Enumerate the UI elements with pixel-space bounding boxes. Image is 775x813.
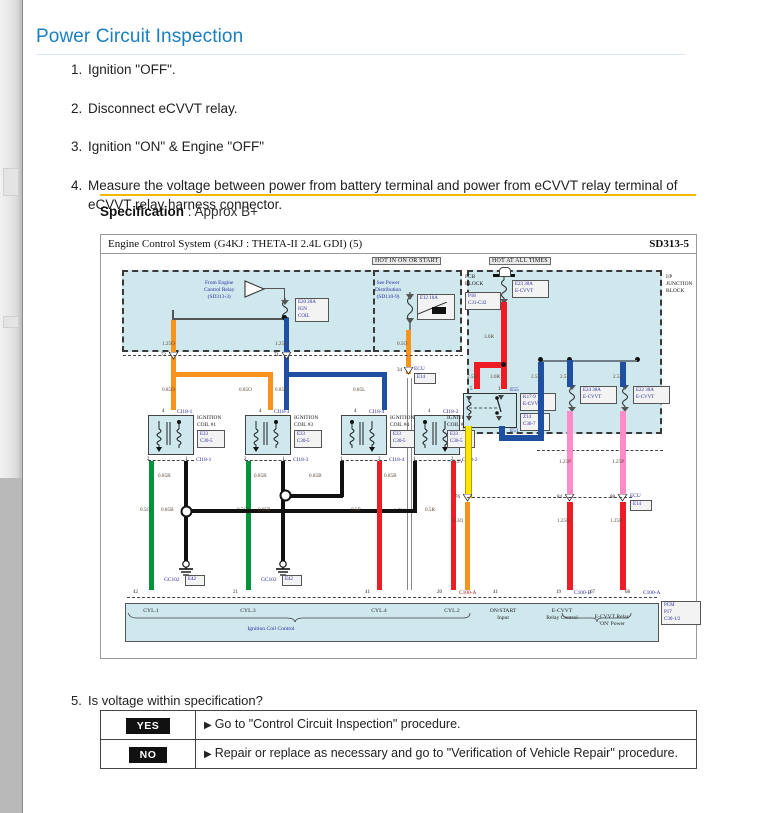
fuse-box-e23-ecvvt: E23 30A E-CVVT bbox=[512, 280, 549, 298]
step-text: Disconnect eCVVT relay. bbox=[88, 99, 711, 119]
fuse-e22-symbol bbox=[619, 385, 631, 413]
table-row: YES ▶Go to "Control Circuit Inspection" … bbox=[101, 711, 697, 740]
coil-bottom-connector: CI18-1 bbox=[196, 457, 211, 464]
wire-label: 0.5R bbox=[425, 507, 435, 513]
connector-ref-p18: P18 C31-C32 bbox=[465, 292, 501, 310]
wire-label: 3.0R bbox=[484, 334, 494, 340]
wire-label: 2.5L bbox=[531, 374, 541, 380]
zone-tag-hot-in-on-or-start: HOT IN ON OR START bbox=[372, 257, 441, 265]
ground-symbol-gc102-b bbox=[274, 560, 292, 576]
step-number: 4. bbox=[71, 176, 88, 215]
decision-value-text: Go to "Control Circuit Inspection" proce… bbox=[215, 717, 461, 731]
step-number: 1. bbox=[71, 60, 88, 80]
splice-circle bbox=[279, 489, 292, 502]
coil-bottom-connector: CI18-3 bbox=[293, 457, 308, 464]
ignition-coil-1-title: IGNITIONCOIL #1 bbox=[197, 415, 221, 429]
decision-value-text: Repair or replace as necessary and go to… bbox=[215, 746, 678, 760]
harness-boundary-line-right bbox=[537, 450, 663, 451]
wire-black-coil4 bbox=[340, 461, 344, 497]
wire-label: 0.85B bbox=[384, 473, 397, 479]
connector-pin-number: 41 bbox=[493, 590, 498, 595]
step-text: Ignition "OFF". bbox=[88, 60, 711, 80]
wire-label: 0.5O bbox=[397, 341, 407, 347]
yes-badge: YES bbox=[126, 718, 171, 734]
step-number: 3. bbox=[71, 137, 88, 157]
label-see-power-distribution: See PowerDistribution(SD110-9) bbox=[375, 280, 401, 300]
wire-red-ecvvt-main bbox=[501, 302, 507, 365]
wire-yellow-relay-control bbox=[465, 426, 472, 498]
ground-box: E42 bbox=[185, 575, 205, 586]
fuse-code: E12 10A bbox=[420, 296, 438, 301]
wire-label: 0.5G bbox=[140, 507, 150, 513]
connector-id-c100-a-2: C100-A bbox=[643, 590, 660, 597]
specification-label: Specification bbox=[100, 204, 184, 219]
battery-post-icon bbox=[499, 267, 511, 277]
scrollbar-track-lower[interactable] bbox=[0, 478, 22, 813]
pcm-connector-ref: PCMP17C30-1/2 bbox=[661, 601, 701, 625]
wire-label: 3.0R bbox=[490, 374, 500, 380]
wire-pink-ecvvt-b bbox=[620, 411, 626, 498]
wire-white-ecu bbox=[407, 378, 412, 590]
connector-pin-number: 20 bbox=[437, 590, 442, 595]
connector-pin-number: 68 bbox=[625, 590, 630, 595]
wire-label: 2.5L bbox=[560, 374, 570, 380]
relay-pin-number: 1 bbox=[498, 387, 501, 392]
document-page: Power Circuit Inspection 1. Ignition "OF… bbox=[23, 0, 775, 813]
coil-pin-number: 4 bbox=[259, 409, 262, 414]
wire-label: 0.3Y bbox=[453, 459, 463, 465]
fuse-box-e20-ign-coil: E20 20A IGNCOIL bbox=[295, 298, 329, 322]
ignition-coil-3-title: IGNITIONCOIL #3 bbox=[294, 415, 318, 429]
fuse-box-e24-ecvvt: E24 30A E-CVVT bbox=[580, 386, 617, 404]
connector-pin-number: 67 bbox=[590, 590, 595, 595]
diagram-sheet-number: SD313-5 bbox=[649, 238, 689, 250]
splice-34 bbox=[404, 367, 413, 374]
wire-label: 0.85O bbox=[239, 387, 252, 393]
splice-number: 34 bbox=[397, 368, 402, 373]
fuse-code: E24 30A bbox=[583, 388, 601, 393]
step-number: 2. bbox=[71, 99, 88, 119]
connector-pin-number: 42 bbox=[133, 590, 138, 595]
specification-divider bbox=[100, 194, 696, 196]
wire-label: 0.85L bbox=[353, 387, 365, 393]
decision-key-cell: NO bbox=[101, 740, 196, 769]
coil-symbol bbox=[155, 419, 189, 452]
wire-gray-bus-left-v bbox=[172, 310, 174, 319]
ground-symbol-gc102-a bbox=[177, 560, 195, 576]
step-item: 2. Disconnect eCVVT relay. bbox=[71, 99, 711, 119]
ground-code: GC102 bbox=[164, 577, 180, 584]
wire-red-cyl2 bbox=[451, 461, 456, 590]
diagram-model: (G4KJ : THETA-II 2.4L GDI) (5) bbox=[214, 238, 362, 250]
question-line: 5. Is voltage within specification? bbox=[71, 693, 263, 708]
no-badge: NO bbox=[129, 747, 168, 763]
decision-table: YES ▶Go to "Control Circuit Inspection" … bbox=[100, 710, 697, 769]
bullet-triangle-icon: ▶ bbox=[204, 749, 212, 760]
coil-symbol bbox=[252, 419, 286, 452]
harness-boundary-line bbox=[123, 355, 463, 356]
splice-number: 76 bbox=[455, 495, 460, 500]
coil-pin-number: 4 bbox=[162, 409, 165, 414]
wire-label: 0.85B bbox=[309, 473, 322, 479]
step-item: 3. Ignition "ON" & Engine "OFF" bbox=[71, 137, 711, 157]
connector-function-on-start-input: ON/STARTInput bbox=[478, 608, 528, 623]
connector-box-e14-b: E14 bbox=[630, 500, 652, 511]
wire-label: 1.25R bbox=[557, 518, 570, 524]
wire-blue-branch-h bbox=[284, 372, 387, 377]
wire-label: 1.25L bbox=[275, 341, 287, 347]
wire-label: 1.25P bbox=[559, 459, 571, 465]
splice-circle bbox=[180, 505, 193, 518]
left-scrollbar[interactable] bbox=[0, 0, 23, 813]
decision-value-cell: ▶Go to "Control Circuit Inspection" proc… bbox=[196, 711, 697, 740]
wire-label: 0.85O bbox=[162, 387, 175, 393]
connector-pin-number: 19 bbox=[556, 590, 561, 595]
wire-pink-ecvvt-a bbox=[567, 411, 573, 498]
ground-box: E42 bbox=[282, 575, 302, 586]
fuse-code: E23 30A bbox=[515, 282, 533, 287]
specification-value: Approx B+ bbox=[195, 204, 258, 219]
wiring-diagram: Engine Control System (G4KJ : THETA-II 2… bbox=[100, 234, 697, 659]
wire-orange-branch-r bbox=[268, 372, 273, 410]
wire-label: 1.25P bbox=[612, 459, 624, 465]
page-title: Power Circuit Inspection bbox=[36, 26, 243, 48]
wire-orange-relay-control bbox=[465, 502, 470, 590]
relay-pin-number: 5 bbox=[470, 387, 473, 392]
fuse-e23-symbol bbox=[498, 277, 510, 305]
decision-key-cell: YES bbox=[101, 711, 196, 740]
diagram-canvas: HOT IN ON OR START HOT AT ALL TIMES PCBB… bbox=[101, 254, 698, 658]
wire-label: 0.85B bbox=[254, 473, 267, 479]
wire-green-cyl3 bbox=[246, 461, 251, 590]
diagram-header: Engine Control System (G4KJ : THETA-II 2… bbox=[101, 235, 696, 254]
connector-pin-number: 41 bbox=[365, 590, 370, 595]
wire-label: 0.85B bbox=[258, 507, 271, 513]
fuse-code: E20 20A bbox=[298, 300, 316, 305]
wire-label: 0.85B bbox=[161, 507, 174, 513]
wire-label: 2.5L bbox=[613, 374, 623, 380]
fuse-name: E-CVVT bbox=[515, 289, 533, 294]
wire-label: 1.25R bbox=[610, 518, 623, 524]
fuse-e12-graphic bbox=[418, 302, 448, 315]
zone-tag-hot-at-all-times: HOT AT ALL TIMES bbox=[489, 257, 551, 265]
wire-red-cyl4 bbox=[377, 461, 382, 590]
diagram-system-name: Engine Control System bbox=[108, 238, 211, 250]
connector-group-label: Ignition Coil Control bbox=[211, 626, 331, 632]
wire-red-ecvvt-on-a bbox=[567, 502, 573, 590]
step-text: Ignition "ON" & Engine "OFF" bbox=[88, 137, 711, 157]
wire-green-cyl1 bbox=[149, 461, 154, 590]
wire-label: 0.85L bbox=[275, 387, 287, 393]
fuse-code: E22 30A bbox=[636, 388, 654, 393]
ignition-coil-3-ref: E33C30-5 bbox=[294, 430, 322, 448]
ignition-coil-4-title: IGNITIONCOIL #4 bbox=[390, 415, 414, 429]
coil-bottom-connector: CI18-4 bbox=[389, 457, 404, 464]
relay-ref-z14: Z14C30-7 bbox=[520, 413, 550, 431]
junction-dot bbox=[538, 357, 543, 362]
wire-black-coil2 bbox=[413, 461, 417, 512]
fuse-e24-symbol bbox=[566, 385, 578, 413]
question-text: Is voltage within specification? bbox=[88, 693, 263, 708]
wire-black-coil4-h bbox=[283, 494, 343, 498]
question-number: 5. bbox=[71, 693, 88, 708]
title-divider bbox=[36, 54, 686, 55]
connector-ref-text: P18 C31-C32 bbox=[468, 294, 486, 306]
specification-separator: : bbox=[184, 204, 195, 219]
connector-pin-number: 21 bbox=[233, 590, 238, 595]
wire-label: 0.85B bbox=[158, 473, 171, 479]
ground-code: GC102 bbox=[261, 577, 277, 584]
wire-orange-branch-h bbox=[171, 372, 273, 377]
fuse-name: E-CVVT bbox=[636, 395, 654, 400]
relay-schematic-symbol bbox=[465, 394, 513, 425]
wire-relay-out bbox=[264, 288, 285, 289]
wire-label: 0.3O bbox=[453, 518, 463, 524]
specification-line: Specification : Approx B+ bbox=[100, 204, 258, 219]
wire-label: 2.5R bbox=[467, 374, 477, 380]
coil-pin-number: 4 bbox=[354, 409, 357, 414]
label-ip-junction-block: I/PJUNCTIONBLOCK bbox=[666, 274, 692, 294]
scrollbar-mark bbox=[3, 316, 19, 328]
connector-box-e14: E14 bbox=[414, 373, 436, 384]
junction-dot bbox=[501, 362, 506, 367]
wire-black-coil2-h bbox=[186, 509, 417, 513]
wire-label: 1.25O bbox=[162, 341, 175, 347]
label-pcb-block: PCBBLOCK bbox=[465, 274, 483, 288]
coil-symbol bbox=[348, 419, 382, 452]
scrollbar-thumb[interactable] bbox=[3, 168, 19, 196]
bullet-triangle-icon: ▶ bbox=[204, 720, 212, 731]
fuse-name: E-CVVT bbox=[583, 395, 601, 400]
connector-id-c100-b: C100-B bbox=[574, 590, 591, 597]
harness-boundary-line-pink bbox=[467, 497, 632, 498]
fuse-box-e22-ecvvt: E22 30A E-CVVT bbox=[633, 386, 670, 404]
group-brace bbox=[127, 612, 473, 622]
wire-gray-jog bbox=[620, 360, 637, 362]
connector-ref-ecu-e14: ECU bbox=[414, 366, 425, 373]
table-row: NO ▶Repair or replace as necessary and g… bbox=[101, 740, 697, 769]
wire-gray-bus-left bbox=[172, 318, 286, 320]
coil-pin-number: 4 bbox=[428, 409, 431, 414]
relay-connector-bottom: E51 bbox=[510, 428, 519, 435]
wire-label: 0.5R bbox=[351, 507, 361, 513]
group-brace-right bbox=[561, 612, 633, 622]
label-from-engine-control-relay: From EngineControl Relay(SD313-3) bbox=[204, 280, 234, 300]
connector-dash-line bbox=[127, 597, 657, 598]
wire-red-ecvvt-on-b bbox=[620, 502, 626, 590]
decision-value-cell: ▶Repair or replace as necessary and go t… bbox=[196, 740, 697, 769]
connector-id-c100-a: C100-A bbox=[459, 590, 476, 597]
step-item: 1. Ignition "OFF". bbox=[71, 60, 711, 80]
fuse-e12-symbol bbox=[404, 292, 416, 332]
ignition-coil-1-ref: E33C30-5 bbox=[197, 430, 225, 448]
wire-blue-branch-r bbox=[382, 372, 387, 410]
